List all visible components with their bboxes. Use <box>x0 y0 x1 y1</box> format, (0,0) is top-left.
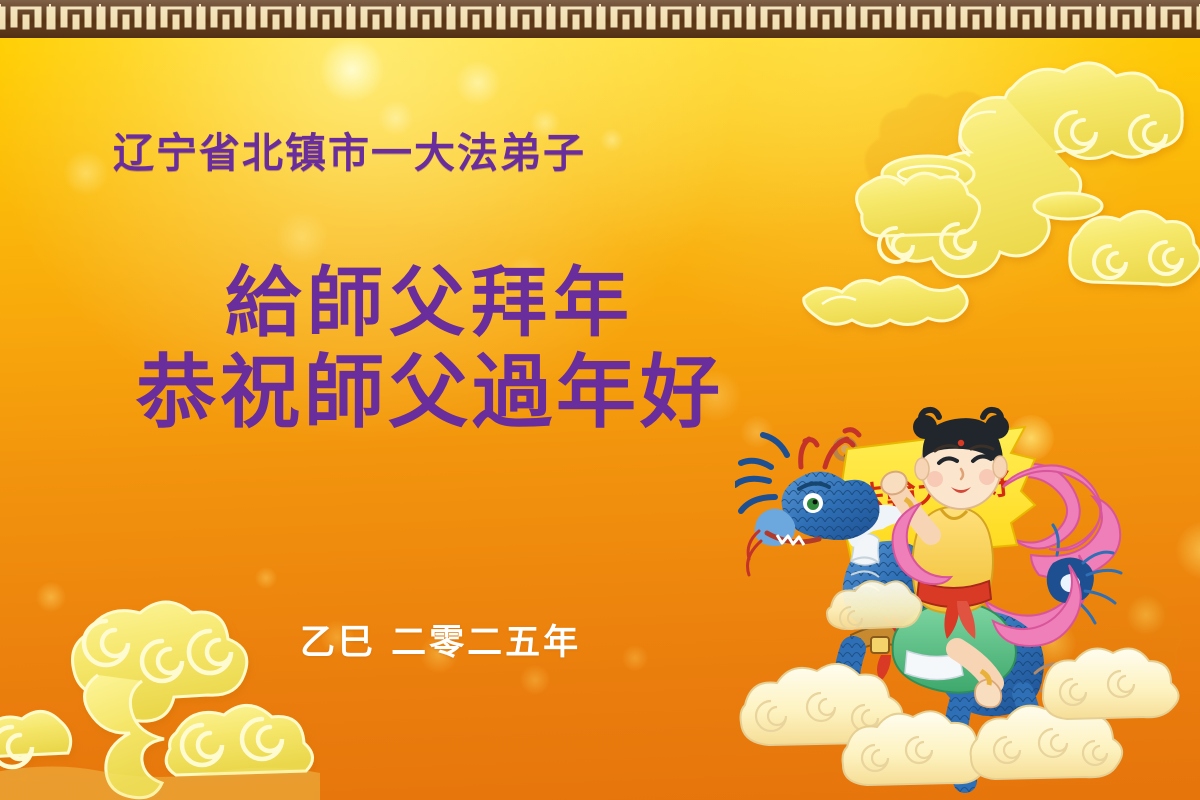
child-riding-dragon-illustration: 法輪大法好 <box>735 405 1200 800</box>
banner-flag: 法輪大法好 <box>839 427 1035 559</box>
bokeh-light <box>622 645 648 671</box>
greeting-title: 給師父拜年 恭祝師父過年好 <box>0 262 860 436</box>
dragon-tail-tuft <box>1047 525 1121 623</box>
bokeh-light <box>275 210 329 264</box>
auspicious-cloud-bottom-left <box>0 575 320 800</box>
sender-line: 辽宁省北镇市一大法弟子 <box>113 133 586 174</box>
foot-clouds <box>741 581 1179 785</box>
greeting-line-1: 給師父拜年 <box>0 262 860 344</box>
bokeh-light <box>255 567 277 589</box>
auspicious-cloud-top-right <box>800 46 1200 346</box>
child-rider <box>878 410 1016 707</box>
dragon <box>735 430 1067 781</box>
meander-border <box>0 0 1200 38</box>
bokeh-light <box>63 150 109 196</box>
bokeh-light <box>1126 595 1166 635</box>
ghost-cloud-decoration <box>980 520 1200 730</box>
new-year-greeting-card: 辽宁省北镇市一大法弟子 給師父拜年 恭祝師父過年好 乙巳 二零二五年 <box>0 0 1200 800</box>
bokeh-light <box>455 60 501 106</box>
child-head <box>913 410 1009 509</box>
banner-text: 法輪大法好 <box>853 466 1016 518</box>
banner-pole <box>835 439 917 655</box>
date-line: 乙巳 二零二五年 <box>300 614 581 665</box>
bokeh-light <box>1008 415 1054 461</box>
dragon-head <box>735 430 879 575</box>
bokeh-light <box>1175 520 1200 580</box>
ribbon <box>885 464 1120 653</box>
greeting-line-2: 恭祝師父過年好 <box>0 350 860 436</box>
ghost-cloud-decoration <box>830 58 1050 248</box>
bokeh-light <box>600 128 624 152</box>
ribbon-front <box>893 465 1102 646</box>
bokeh-light <box>520 665 550 695</box>
bokeh-light <box>36 582 66 612</box>
bokeh-light <box>1030 620 1076 666</box>
bokeh-light <box>320 38 384 102</box>
